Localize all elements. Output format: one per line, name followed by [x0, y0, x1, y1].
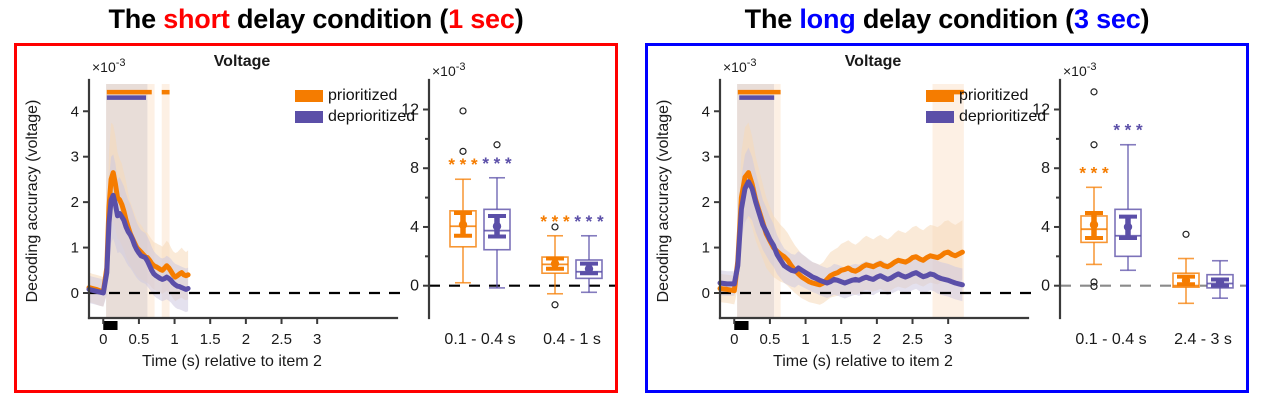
outlier-point	[552, 302, 558, 308]
significance-stars: * * *	[1113, 121, 1143, 140]
y-tick-label: 2	[702, 194, 710, 211]
significance-window	[774, 84, 780, 318]
significance-stars: * * *	[540, 212, 570, 231]
legend-swatch-deprioritized	[295, 111, 323, 123]
mean-marker	[1216, 279, 1224, 287]
x-tick-label: 1.5	[200, 331, 221, 348]
legend-swatch-prioritized	[295, 90, 323, 102]
title-prefix: The	[108, 4, 163, 34]
y-tick-label: 8	[410, 160, 419, 177]
title-highlight: short	[163, 4, 230, 34]
y-tick-label: 4	[410, 219, 419, 236]
outlier-point	[1091, 142, 1097, 148]
y-tick-label: 3	[71, 149, 79, 166]
title-suffix: )	[1141, 4, 1150, 34]
y-tick-label: 0	[410, 278, 419, 295]
x-tick-label: 0.5	[759, 331, 780, 348]
group-label: 2.4 - 3 s	[1174, 331, 1232, 348]
title-mid: delay condition (	[230, 4, 448, 34]
panel-long-plots: 00.511.522.5301234×10-3Time (s) relative…	[648, 46, 1246, 390]
mean-marker	[459, 221, 467, 229]
y-tick-label: 4	[1041, 219, 1050, 236]
box-deprioritized: * * *	[1113, 121, 1143, 271]
outlier-point	[494, 142, 500, 148]
group-label: 0.4 - 1 s	[543, 331, 601, 348]
y-axis-exponent: ×10-3	[432, 61, 466, 79]
panel-short-plots: 00.511.522.5301234×10-3Time (s) relative…	[17, 46, 615, 390]
box-deprioritized: * * *	[574, 212, 604, 293]
outlier-point	[460, 148, 466, 154]
significance-stars: * * *	[482, 154, 512, 173]
figure-root: The short delay condition (1 sec) The lo…	[0, 0, 1262, 401]
y-axis-label: Decoding accuracy (voltage)	[655, 100, 672, 303]
y-tick-label: 4	[71, 103, 79, 120]
outlier-point	[1183, 231, 1189, 237]
y-axis-label: Decoding accuracy (voltage)	[24, 100, 41, 303]
panel-long-delay: 00.511.522.5301234×10-3Time (s) relative…	[645, 43, 1249, 393]
stimulus-bar	[103, 321, 117, 330]
title-value: 1 sec	[448, 4, 515, 34]
title-highlight: long	[799, 4, 855, 34]
mean-marker	[1182, 276, 1190, 284]
title-value: 3 sec	[1074, 4, 1141, 34]
title-mid: delay condition (	[856, 4, 1074, 34]
y-axis-exponent: ×10-3	[92, 57, 126, 75]
x-axis-label: Time (s) relative to item 2	[142, 353, 322, 370]
outlier-point	[1091, 283, 1097, 289]
title-suffix: )	[515, 4, 524, 34]
timeseries-plot: 00.511.522.5301234×10-3Time (s) relative…	[24, 53, 415, 370]
x-tick-label: 3	[944, 331, 952, 348]
significance-stars: * * *	[448, 155, 478, 174]
mean-marker	[493, 222, 501, 230]
plot-subtitle: Voltage	[214, 53, 271, 70]
x-tick-label: 2.5	[271, 331, 292, 348]
x-tick-label: 3	[313, 331, 321, 348]
x-tick-label: 0.5	[128, 331, 149, 348]
y-tick-label: 1	[71, 240, 79, 257]
x-tick-label: 0	[730, 331, 738, 348]
x-tick-label: 1	[801, 331, 809, 348]
y-tick-label: 1	[702, 240, 710, 257]
y-tick-label: 12	[1032, 101, 1050, 118]
timeseries-plot: 00.511.522.5301234×10-3Time (s) relative…	[655, 53, 1046, 370]
mean-marker	[1124, 223, 1132, 231]
outlier-point	[460, 108, 466, 114]
panel-title-long: The long delay condition (3 sec)	[645, 4, 1249, 35]
mean-marker	[585, 265, 593, 273]
group-label: 0.1 - 0.4 s	[444, 331, 515, 348]
x-tick-label: 2.5	[902, 331, 923, 348]
y-tick-label: 12	[401, 101, 419, 118]
legend-swatch-deprioritized	[926, 111, 954, 123]
x-tick-label: 0	[99, 331, 107, 348]
y-tick-label: 0	[71, 285, 79, 302]
significance-stars: * * *	[574, 212, 604, 231]
outlier-point	[1091, 89, 1097, 95]
box-deprioritized	[1207, 261, 1233, 298]
box-prioritized: * * *	[1079, 89, 1109, 290]
legend-label-prioritized: prioritized	[959, 87, 1028, 104]
x-tick-label: 2	[873, 331, 881, 348]
boxplot: * * ** * *04812×10-30.1 - 0.4 s2.4 - 3 s	[1032, 61, 1246, 348]
box-deprioritized: * * *	[482, 142, 512, 288]
panel-short-delay: 00.511.522.5301234×10-3Time (s) relative…	[14, 43, 618, 393]
y-axis-exponent: ×10-3	[1063, 61, 1097, 79]
boxplot: * * ** * ** * ** * *04812×10-30.1 - 0.4 …	[401, 61, 615, 348]
box-prioritized: * * *	[540, 212, 570, 308]
box-prioritized	[1173, 231, 1199, 303]
title-prefix: The	[745, 4, 800, 34]
x-tick-label: 2	[242, 331, 250, 348]
legend-swatch-prioritized	[926, 90, 954, 102]
y-tick-label: 8	[1041, 160, 1050, 177]
x-tick-label: 1.5	[831, 331, 852, 348]
legend-label-prioritized: prioritized	[328, 87, 397, 104]
x-tick-label: 1	[170, 331, 178, 348]
y-axis-exponent: ×10-3	[723, 57, 757, 75]
y-tick-label: 0	[1041, 278, 1050, 295]
stimulus-bar	[734, 321, 748, 330]
y-tick-label: 0	[702, 285, 710, 302]
y-tick-label: 3	[702, 149, 710, 166]
y-tick-label: 2	[71, 194, 79, 211]
group-label: 0.1 - 0.4 s	[1075, 331, 1146, 348]
panel-title-short: The short delay condition (1 sec)	[14, 4, 618, 35]
box-prioritized: * * *	[448, 108, 478, 283]
x-axis-label: Time (s) relative to item 2	[773, 353, 953, 370]
mean-marker	[551, 259, 559, 267]
mean-marker	[1090, 221, 1098, 229]
y-tick-label: 4	[702, 103, 710, 120]
plot-subtitle: Voltage	[845, 53, 902, 70]
significance-stars: * * *	[1079, 163, 1109, 182]
